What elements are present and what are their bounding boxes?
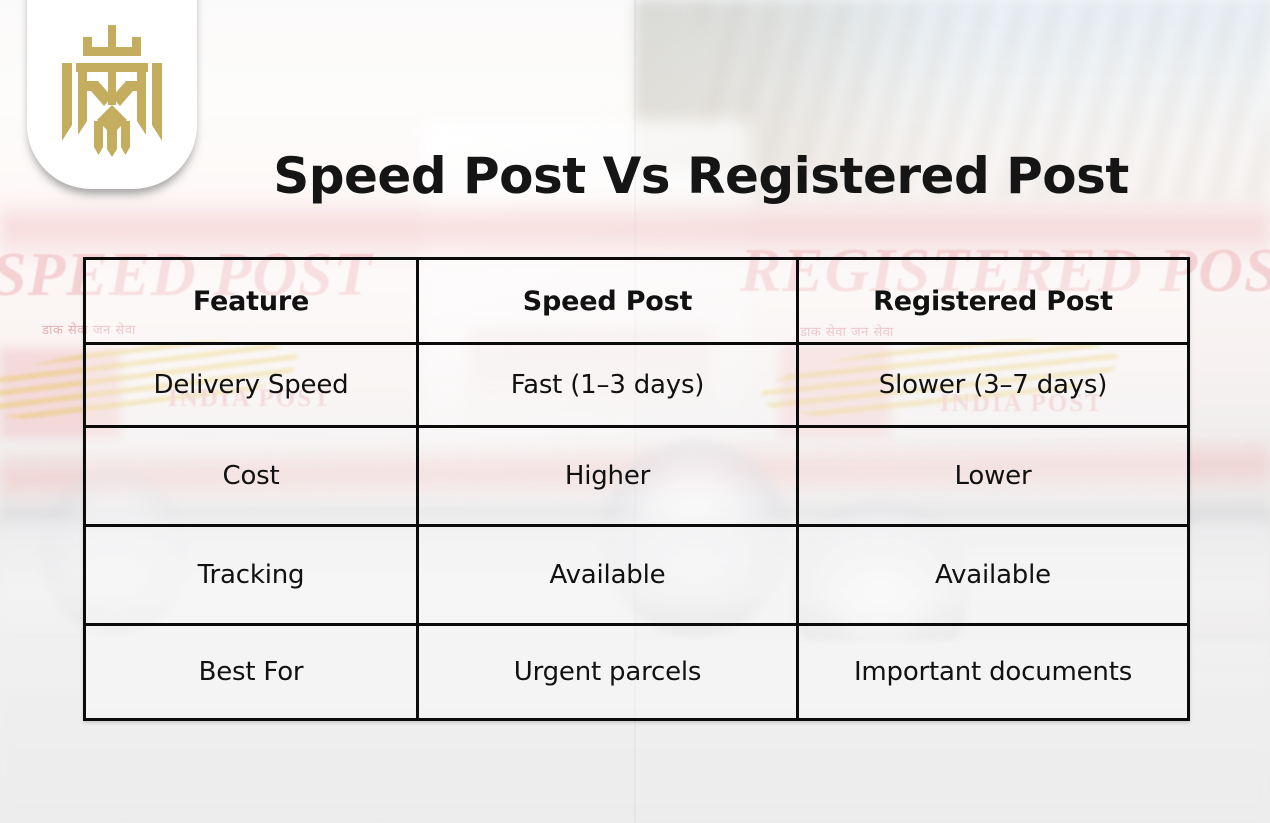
cell-speed-post-best-for: Urgent parcels	[418, 625, 798, 720]
cell-registered-post-cost: Lower	[798, 427, 1189, 526]
page-title: Speed Post Vs Registered Post	[0, 143, 1270, 209]
cell-feature-tracking: Tracking	[85, 526, 418, 625]
table-row: Cost Higher Lower	[85, 427, 1189, 526]
table-row: Best For Urgent parcels Important docume…	[85, 625, 1189, 720]
comparison-table: Feature Speed Post Registered Post Deliv…	[83, 257, 1190, 721]
column-header-speed-post: Speed Post	[418, 259, 798, 344]
cell-speed-post-delivery-speed: Fast (1–3 days)	[418, 344, 798, 427]
slide-canvas: SPEED POST REGISTERED POST डाक सेवा जन स…	[0, 0, 1270, 823]
cell-feature-best-for: Best For	[85, 625, 418, 720]
cell-registered-post-best-for: Important documents	[798, 625, 1189, 720]
cell-speed-post-cost: Higher	[418, 427, 798, 526]
table-header-row: Feature Speed Post Registered Post	[85, 259, 1189, 344]
cell-feature-delivery-speed: Delivery Speed	[85, 344, 418, 427]
cell-registered-post-delivery-speed: Slower (3–7 days)	[798, 344, 1189, 427]
column-header-feature: Feature	[85, 259, 418, 344]
cell-feature-cost: Cost	[85, 427, 418, 526]
table-row: Tracking Available Available	[85, 526, 1189, 625]
table-row: Delivery Speed Fast (1–3 days) Slower (3…	[85, 344, 1189, 427]
cell-speed-post-tracking: Available	[418, 526, 798, 625]
column-header-registered-post: Registered Post	[798, 259, 1189, 344]
cell-registered-post-tracking: Available	[798, 526, 1189, 625]
india-post-emblem-icon	[50, 0, 174, 157]
